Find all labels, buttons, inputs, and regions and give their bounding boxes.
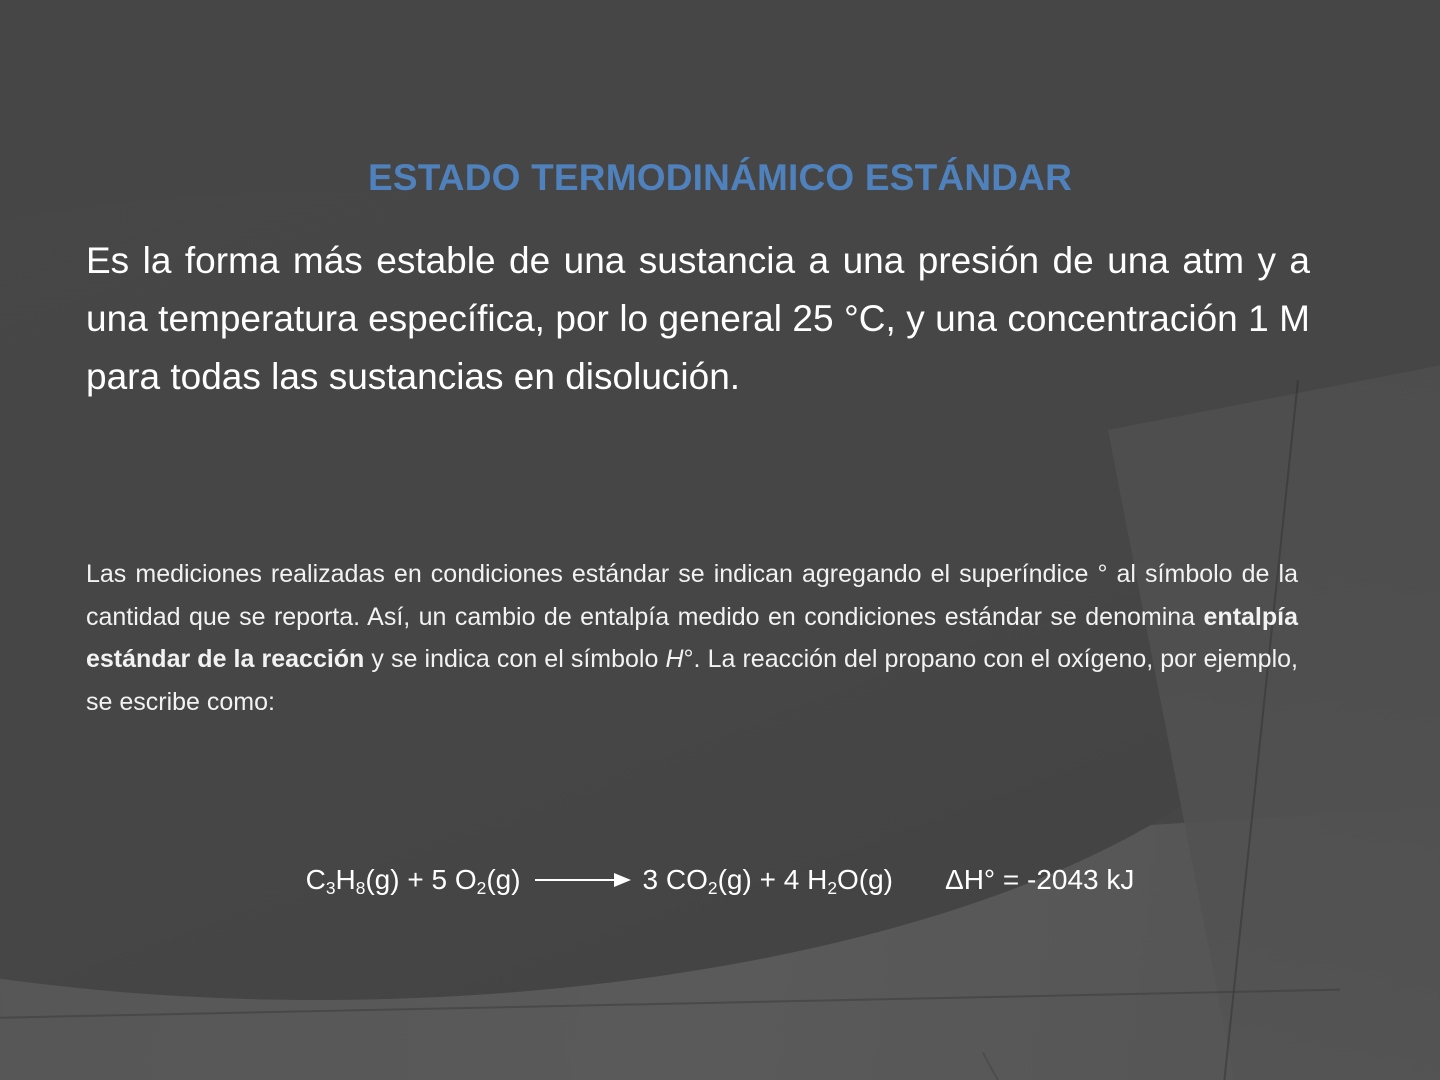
lead-paragraph: Es la forma más estable de una sustancia… <box>86 232 1310 406</box>
equation-product-co2: 3 CO2(g) <box>643 864 752 895</box>
enthalpy-label: ΔH° = <box>945 864 1027 895</box>
water-h-subscript: 2 <box>827 878 837 898</box>
enthalpy-value: -2043 kJ <box>1027 864 1134 895</box>
equation-reactant-oxygen: 5 O2(g) <box>432 864 521 895</box>
slide-content: ESTADO TERMODINÁMICO ESTÁNDAR Es la form… <box>0 0 1440 1080</box>
body-italic-symbol: H <box>665 645 683 673</box>
water-o: O <box>837 864 859 895</box>
reaction-arrow-icon <box>535 873 631 887</box>
water-state: (g) <box>859 864 893 895</box>
water-h: H <box>807 864 827 895</box>
equation-product-water: 4 H2O(g) <box>784 864 893 895</box>
co2-state: (g) <box>718 864 752 895</box>
propane-state: (g) <box>365 864 399 895</box>
chemical-equation: C3H8(g) + 5 O2(g)3 CO2(g) + 4 H2O(g)ΔH° … <box>0 860 1440 900</box>
co2-subscript: 2 <box>708 878 718 898</box>
oxygen-coefficient: 5 <box>432 864 448 895</box>
propane-c: C <box>306 864 326 895</box>
page-title: ESTADO TERMODINÁMICO ESTÁNDAR <box>0 157 1440 199</box>
co2-formula: CO <box>666 864 708 895</box>
equation-reactant-propane: C3H8(g) <box>306 864 400 895</box>
body-text-part-2: y se indica con el símbolo <box>364 645 665 673</box>
propane-h: H <box>335 864 355 895</box>
oxygen-o: O <box>455 864 477 895</box>
oxygen-subscript: 2 <box>477 878 487 898</box>
arrow-head <box>614 873 631 887</box>
water-coefficient: 4 <box>784 864 800 895</box>
lead-paragraph-text: Es la forma más estable de una sustancia… <box>86 240 1310 397</box>
co2-coefficient: 3 <box>643 864 659 895</box>
body-text-part-1: Las mediciones realizadas en condiciones… <box>86 560 1298 631</box>
presentation-slide: ESTADO TERMODINÁMICO ESTÁNDAR Es la form… <box>0 0 1440 1080</box>
body-degree-symbol: ° <box>684 645 694 673</box>
equation-plus-2: + <box>760 864 776 895</box>
enthalpy-expression: ΔH° = -2043 kJ <box>945 864 1134 895</box>
arrow-shaft <box>535 879 617 881</box>
oxygen-state: (g) <box>486 864 520 895</box>
propane-h-subscript: 8 <box>356 878 366 898</box>
body-paragraph: Las mediciones realizadas en condiciones… <box>86 553 1298 723</box>
equation-plus-1: + <box>407 864 423 895</box>
